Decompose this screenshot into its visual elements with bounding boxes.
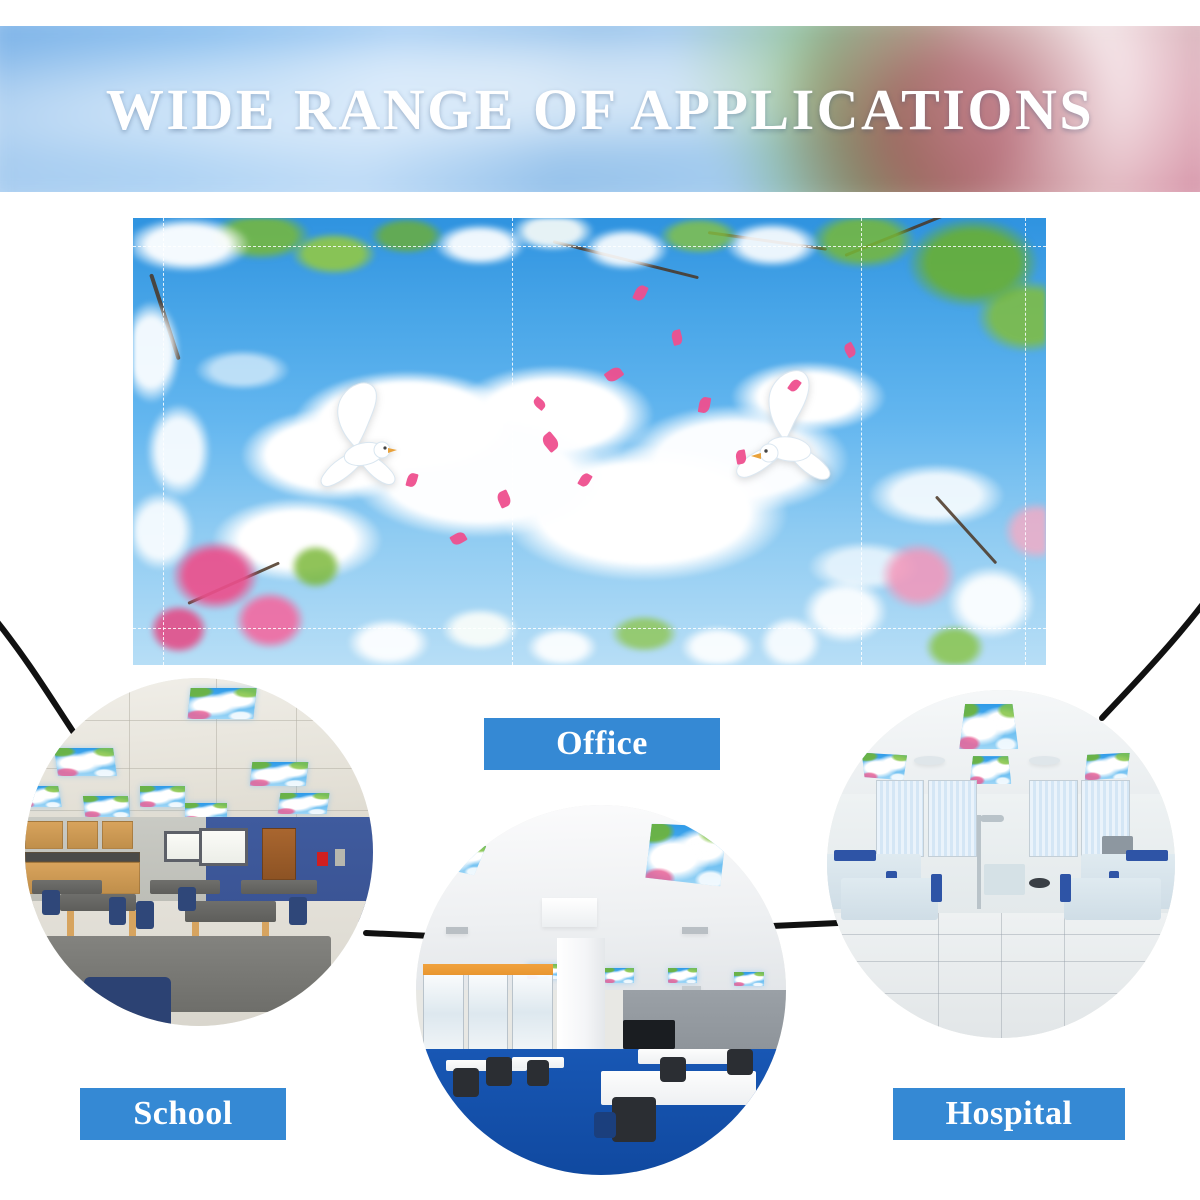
hospital-exam-lamp-head — [980, 815, 1004, 822]
table-leg — [129, 911, 136, 939]
school-cabinet — [67, 821, 98, 849]
office-window-blind — [423, 964, 553, 975]
label-hospital-text: Hospital — [946, 1095, 1073, 1133]
hero-blossom-foliage — [133, 218, 1046, 665]
sky-ceiling-panel — [83, 796, 130, 817]
school-cabinet — [102, 821, 133, 849]
header-banner: WIDE RANGE OF APPLICATIONS — [0, 26, 1200, 192]
hospital-bed — [1064, 878, 1161, 920]
office-chair — [612, 1097, 656, 1141]
hospital-exam-lamp-pole — [977, 815, 981, 909]
school-counter — [25, 852, 140, 862]
school-cabinet — [25, 821, 63, 849]
school-chair — [178, 887, 195, 911]
sky-ceiling-panel — [140, 786, 185, 807]
label-hospital: Hospital — [893, 1088, 1125, 1140]
office-chair — [486, 1057, 512, 1087]
page-title: WIDE RANGE OF APPLICATIONS — [0, 26, 1200, 192]
hospital-stool — [1029, 878, 1050, 888]
ceiling-tile-line — [25, 720, 373, 721]
sky-ceiling-panel — [1085, 753, 1130, 781]
panel-divider-vertical — [512, 218, 513, 665]
sky-ceiling-panel — [734, 972, 764, 987]
office-ceiling-vent — [446, 927, 468, 934]
hospital-bed-rail — [1060, 874, 1070, 902]
sky-ceiling-panel — [25, 786, 62, 807]
school-lab-table — [185, 901, 275, 922]
school-foreground-table — [25, 936, 331, 1013]
hospital-ceiling-light — [1029, 756, 1060, 765]
office-chair — [453, 1068, 479, 1098]
application-circle-school[interactable] — [25, 678, 373, 1026]
sky-ceiling-panel — [250, 762, 308, 786]
dove-icon — [699, 357, 874, 502]
panel-divider-vertical — [163, 218, 164, 665]
office-chair — [660, 1057, 686, 1083]
application-showcase-page: WIDE RANGE OF APPLICATIONS — [0, 0, 1200, 1200]
office-ceiling-beam — [542, 898, 598, 928]
hero-sky-ceiling-mural — [133, 218, 1046, 665]
label-office-text: Office — [556, 725, 648, 763]
school-scene — [25, 678, 373, 1026]
floor-tile-line — [1064, 913, 1065, 1038]
hospital-scene — [827, 690, 1175, 1038]
office-window — [512, 968, 553, 1057]
school-chair — [136, 901, 153, 929]
sky-ceiling-panel — [959, 704, 1018, 749]
panel-divider-vertical — [861, 218, 862, 665]
school-smartboard — [199, 828, 248, 866]
sky-ceiling-panel — [605, 968, 635, 983]
sky-ceiling-panel — [645, 824, 726, 887]
school-lab-table — [241, 880, 318, 894]
school-door — [262, 828, 297, 880]
hospital-cart — [984, 864, 1026, 895]
hospital-window — [1029, 780, 1078, 857]
school-chair — [289, 897, 306, 925]
sky-ceiling-panel — [668, 968, 698, 983]
hospital-bed-rail — [931, 874, 941, 902]
sky-ceiling-panel — [862, 753, 907, 781]
sky-ceiling-panel — [187, 688, 256, 719]
office-scene — [416, 805, 786, 1175]
office-window — [423, 968, 464, 1061]
school-foreground-chair — [84, 977, 171, 1026]
school-chair — [42, 890, 59, 914]
office-chair — [727, 1049, 753, 1075]
school-chair — [109, 897, 126, 925]
label-school: School — [80, 1088, 286, 1140]
office-waste-bin — [594, 1112, 616, 1138]
office-chair — [527, 1060, 549, 1086]
sky-ceiling-panel — [54, 748, 117, 776]
label-office: Office — [484, 718, 720, 770]
school-fire-alarm — [317, 852, 327, 866]
hospital-window — [876, 780, 925, 857]
hospital-bed-rail — [1126, 850, 1168, 860]
floor-tile-line — [938, 913, 939, 1038]
floor-tile-line — [1001, 913, 1002, 1038]
ceiling-tile-line — [129, 678, 130, 831]
panel-divider-horizontal — [133, 246, 1046, 247]
office-display — [623, 1020, 675, 1050]
application-circle-office[interactable] — [416, 805, 786, 1175]
office-window — [468, 968, 509, 1061]
panel-divider-vertical — [1025, 218, 1026, 665]
office-ceiling-vent — [682, 927, 708, 934]
hospital-bed-rail — [834, 850, 876, 860]
sky-ceiling-panel — [278, 793, 330, 814]
hospital-bed — [841, 878, 938, 920]
hospital-window — [928, 780, 977, 857]
hospital-ceiling-light — [914, 756, 945, 765]
table-leg — [67, 911, 74, 939]
panel-divider-horizontal — [133, 628, 1046, 629]
application-circle-hospital[interactable] — [827, 690, 1175, 1038]
school-fire-alarm — [335, 849, 345, 866]
dove-icon — [288, 370, 448, 500]
label-school-text: School — [133, 1095, 232, 1133]
